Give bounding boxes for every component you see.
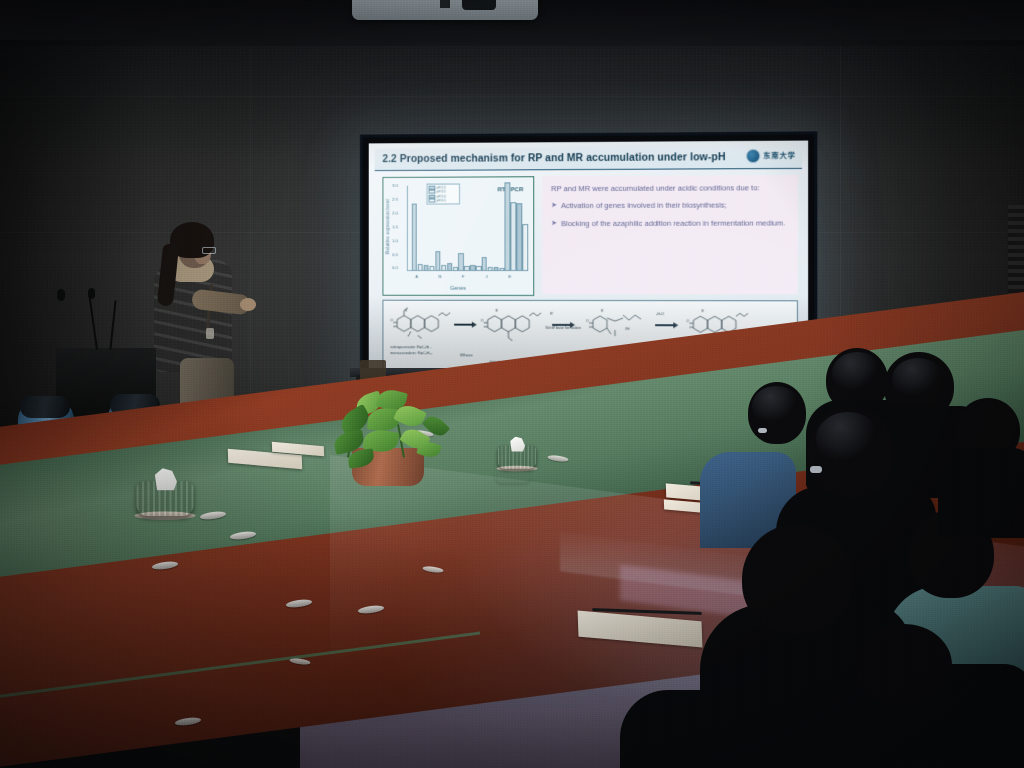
reaction-label: Schiff base formation — [543, 326, 583, 330]
potted-plant — [330, 388, 470, 488]
x-tick: E — [504, 274, 516, 279]
glasses-icon — [202, 247, 216, 254]
arrow-bullet-icon: ➤ — [551, 201, 557, 212]
x-tick: J — [481, 274, 493, 279]
chart-bar — [441, 266, 446, 271]
tissue-paper — [510, 437, 525, 452]
bullet-text: Activation of genes involved in their bi… — [561, 201, 727, 212]
arrow-bullet-icon: ➤ — [551, 219, 557, 230]
y-tick: 0.0 — [392, 265, 398, 270]
chart-bar — [470, 265, 475, 271]
hair-highlight — [832, 352, 882, 394]
bar-group — [435, 184, 458, 271]
id-badge — [206, 328, 214, 339]
arrow-head-icon — [673, 322, 678, 328]
chart-x-ticks: ABFJE — [383, 177, 533, 178]
chart-bar — [418, 264, 423, 271]
chart-y-axis — [407, 186, 408, 271]
chart-bar — [412, 204, 417, 271]
where-label: Where — [460, 352, 473, 357]
chart-bar — [476, 266, 481, 271]
attendee-head — [742, 524, 852, 634]
arrow-line — [454, 324, 472, 325]
chart-bar — [424, 265, 429, 271]
chart-bar — [429, 266, 434, 271]
logo-text: 东南大学 — [763, 151, 796, 161]
svg-text:R: R — [496, 309, 499, 313]
chart-bar — [511, 202, 516, 271]
svg-text:R: R — [601, 309, 604, 313]
chart-bar — [517, 203, 522, 271]
seal-icon — [746, 149, 760, 163]
arrow-top-label: -H₂O — [656, 312, 664, 316]
panel-bullet: ➤ Blocking of the azaphilic addition rea… — [542, 211, 798, 229]
glasses-icon — [758, 428, 767, 433]
attendee-head — [856, 624, 952, 706]
tissue-box-reflection — [495, 455, 531, 483]
chart-bar — [458, 253, 463, 271]
chart-bar — [447, 263, 452, 271]
chart-bar — [505, 183, 510, 271]
hair-highlight — [752, 386, 800, 426]
slide-title-bar: 2.2 Proposed mechanism for RP and MR acc… — [375, 146, 802, 171]
reaction-arrow-2: R' Schiff base formation — [543, 318, 583, 332]
panel-lead-text: RP and MR were accumulated under acidic … — [542, 175, 798, 194]
chart-bar — [499, 268, 504, 271]
svg-text:R: R — [701, 309, 704, 313]
panel-bullet: ➤ Activation of genes involved in their … — [542, 193, 798, 212]
bar-group — [505, 183, 528, 271]
chart-bar — [487, 267, 492, 271]
y-tick: 0.5 — [392, 252, 398, 257]
x-tick: F — [457, 274, 469, 279]
bar-group — [482, 183, 505, 271]
microphone-icon — [57, 289, 65, 301]
projector-lens-icon — [462, 0, 496, 10]
chart-y-axis-label: Relative expression level — [382, 184, 392, 269]
y-tick: 3.0 — [392, 183, 398, 188]
y-tick: 2.5 — [392, 197, 398, 202]
chart-x-axis-label: Genes — [383, 286, 533, 292]
tissue-reflection-body — [495, 461, 531, 483]
reaction-arrow-3: -H₂O — [649, 318, 683, 332]
presenter-hand — [240, 298, 256, 311]
chart-bar — [523, 224, 528, 271]
svg-text:O: O — [390, 318, 393, 322]
glasses-icon — [810, 466, 822, 473]
svg-text:O: O — [481, 319, 484, 323]
x-tick: B — [434, 274, 446, 279]
reaction-arrow-1 — [452, 318, 478, 332]
chem-notes: rubropunctatin: R=C₅H₁₁ monascorubrin: R… — [390, 344, 432, 356]
arrow-head-icon — [471, 322, 476, 328]
molecule-structure-icon: O R — [389, 306, 450, 344]
y-tick: 1.0 — [392, 238, 398, 243]
attendee-torso — [620, 690, 850, 768]
bullet-text: Blocking of the azaphilic addition react… — [561, 218, 785, 229]
arrow-line — [655, 325, 673, 326]
arrow-top-label: R' — [550, 312, 553, 316]
conference-room-photo: 2.2 Proposed mechanism for RP and MR acc… — [0, 0, 1024, 768]
chart-bars — [383, 177, 533, 178]
molecule-structure-icon: O R OH — [585, 306, 647, 344]
svg-text:O: O — [686, 319, 689, 323]
university-logo: 东南大学 — [746, 149, 796, 163]
tissue-paper — [155, 468, 177, 490]
y-tick: 1.5 — [392, 224, 398, 229]
svg-text:O: O — [586, 319, 589, 323]
y-tick: 2.0 — [392, 211, 398, 216]
projector-mount — [440, 0, 450, 8]
svg-text:OH: OH — [625, 327, 629, 331]
bar-group — [412, 184, 435, 271]
chart-bar — [493, 267, 498, 271]
hair-highlight — [892, 358, 944, 400]
rtqpcr-chart: Relative expression level RT-qPCR 3.0 2.… — [382, 176, 534, 296]
slide-title: 2.2 Proposed mechanism for RP and MR acc… — [375, 152, 726, 165]
chem-note-line: monascorubrin: R=C₇H₁₅ — [390, 350, 432, 356]
svg-text:R: R — [405, 309, 408, 313]
molecule-structure-icon: O R — [480, 306, 541, 344]
slide-text-panel: RP and MR were accumulated under acidic … — [542, 175, 798, 294]
microphone-icon — [88, 288, 95, 299]
x-tick: A — [411, 274, 423, 279]
attendee-torso — [938, 448, 1024, 538]
chart-bar — [482, 257, 487, 271]
chart-bar — [453, 267, 458, 271]
chair-headrest — [20, 396, 70, 418]
chart-bar — [435, 251, 440, 271]
hair-highlight — [816, 412, 880, 466]
chart-bar — [464, 266, 469, 271]
bar-group — [458, 183, 481, 271]
tissue-box — [136, 472, 193, 516]
